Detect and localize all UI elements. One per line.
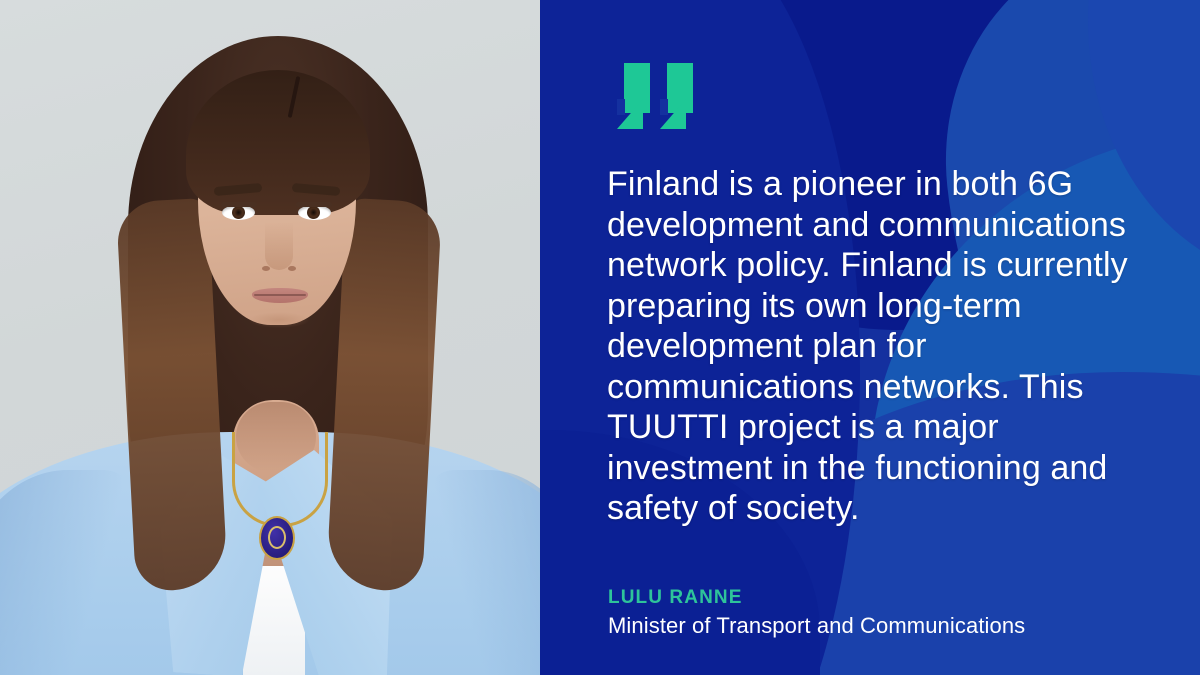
quotation-mark-icon	[617, 63, 693, 129]
quote-text: Finland is a pioneer in both 6G developm…	[607, 164, 1152, 529]
eyelid-left	[221, 202, 257, 207]
eyelid-right	[296, 202, 332, 207]
lip-line	[254, 294, 306, 296]
iris-left	[232, 206, 245, 219]
quotation-mark-notch	[660, 99, 668, 115]
attribution-name: LULU RANNE	[608, 586, 1025, 610]
quotation-mark-notch	[617, 99, 625, 115]
attribution-title: Minister of Transport and Communications	[608, 612, 1025, 640]
attribution: LULU RANNE Minister of Transport and Com…	[608, 586, 1025, 640]
blazer-shadow-left	[0, 470, 140, 675]
quotation-mark-stem	[624, 63, 650, 113]
nostril-left	[262, 266, 270, 271]
quote-card: Finland is a pioneer in both 6G developm…	[0, 0, 1200, 675]
iris-right	[307, 206, 320, 219]
quotation-mark-stem	[667, 63, 693, 113]
nostril-right	[288, 266, 296, 271]
necklace-chain	[232, 432, 328, 527]
portrait-photo	[0, 0, 540, 675]
necklace-pendant-emblem	[268, 526, 286, 549]
quotation-mark-glyph-second	[660, 63, 693, 129]
quotation-mark-glyph-first	[617, 63, 650, 129]
chin-shading	[248, 312, 310, 328]
portrait-figure	[0, 0, 540, 675]
blazer-shadow-right	[420, 470, 540, 675]
nose	[265, 222, 293, 270]
